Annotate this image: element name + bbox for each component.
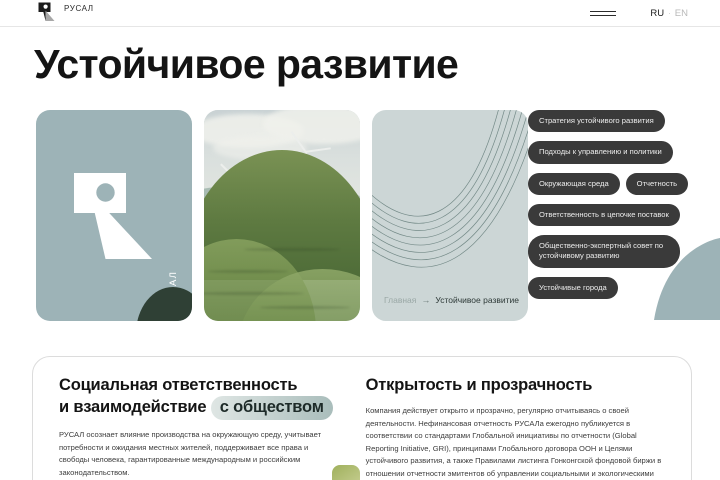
curved-lines-decoration bbox=[372, 110, 528, 321]
title-line-1: Социальная ответственность bbox=[59, 376, 297, 394]
photo-texture bbox=[208, 270, 288, 273]
lang-separator: · bbox=[668, 9, 671, 18]
social-responsibility-block: Социальная ответственность и взаимодейст… bbox=[59, 375, 340, 480]
transparency-body: Компания действует открыто и прозрачно, … bbox=[366, 405, 665, 480]
tag-management-approaches[interactable]: Подходы к управлению и политики bbox=[528, 141, 673, 163]
tag-supply-chain[interactable]: Ответственность в цепочке поставок bbox=[528, 204, 680, 226]
brand-logo[interactable]: РУСАЛ bbox=[38, 2, 94, 23]
breadcrumb-current: Устойчивое развитие bbox=[435, 295, 519, 305]
tag-sustainable-cities[interactable]: Устойчивые города bbox=[528, 277, 618, 299]
rusal-logo-icon bbox=[38, 2, 59, 23]
social-responsibility-title: Социальная ответственность и взаимодейст… bbox=[59, 375, 340, 420]
tag-environment[interactable]: Окружающая среда bbox=[528, 173, 620, 195]
transparency-block: Открытость и прозрачность Компания дейст… bbox=[366, 375, 665, 480]
page-title: Устойчивое развитие bbox=[34, 40, 458, 88]
photo-texture bbox=[260, 306, 350, 309]
hamburger-menu-icon[interactable] bbox=[590, 9, 616, 19]
card-logo-corner-decoration bbox=[136, 287, 192, 321]
square-shape bbox=[332, 465, 360, 480]
language-switcher[interactable]: RU · EN bbox=[650, 8, 688, 19]
header-actions: RU · EN bbox=[590, 0, 688, 27]
title-highlight-pill: с обществом bbox=[211, 396, 333, 420]
breadcrumb: Главная → Устойчивое развитие bbox=[384, 295, 519, 305]
tag-reporting[interactable]: Отчетность bbox=[626, 173, 688, 195]
bottom-info-panel: Социальная ответственность и взаимодейст… bbox=[32, 356, 692, 480]
tag-row: Подходы к управлению и политики bbox=[528, 141, 698, 163]
tag-row: Ответственность в цепочке поставок bbox=[528, 204, 698, 226]
social-responsibility-body: РУСАЛ осознает влияние производства на о… bbox=[59, 429, 340, 479]
rusal-logo-large-icon bbox=[74, 173, 154, 266]
sage-curve-decoration bbox=[636, 238, 720, 320]
card-logo[interactable]: РУСАЛ bbox=[36, 110, 192, 321]
breadcrumb-home-link[interactable]: Главная bbox=[384, 295, 416, 305]
breadcrumb-arrow-icon: → bbox=[421, 295, 430, 305]
tag-row: Стратегия устойчивого развития bbox=[528, 110, 698, 132]
lang-ru[interactable]: RU bbox=[650, 8, 664, 19]
brand-name: РУСАЛ bbox=[64, 2, 94, 13]
green-squares-decoration bbox=[308, 465, 364, 480]
tag-strategy[interactable]: Стратегия устойчивого развития bbox=[528, 110, 665, 132]
page-root: РУСАЛ RU · EN Устойчивое развитие bbox=[0, 0, 720, 480]
hero-cards: РУСАЛ bbox=[36, 110, 528, 321]
transparency-title: Открытость и прозрачность bbox=[366, 375, 665, 396]
card-photo[interactable] bbox=[204, 110, 360, 321]
photo-texture bbox=[244, 248, 340, 251]
card-breadcrumb[interactable]: Главная → Устойчивое развитие bbox=[372, 110, 528, 321]
lang-en[interactable]: EN bbox=[675, 8, 688, 19]
title-line-2: и взаимодействие bbox=[59, 398, 206, 416]
site-header: РУСАЛ RU · EN bbox=[0, 0, 720, 27]
tag-row: Окружающая среда Отчетность bbox=[528, 173, 698, 195]
